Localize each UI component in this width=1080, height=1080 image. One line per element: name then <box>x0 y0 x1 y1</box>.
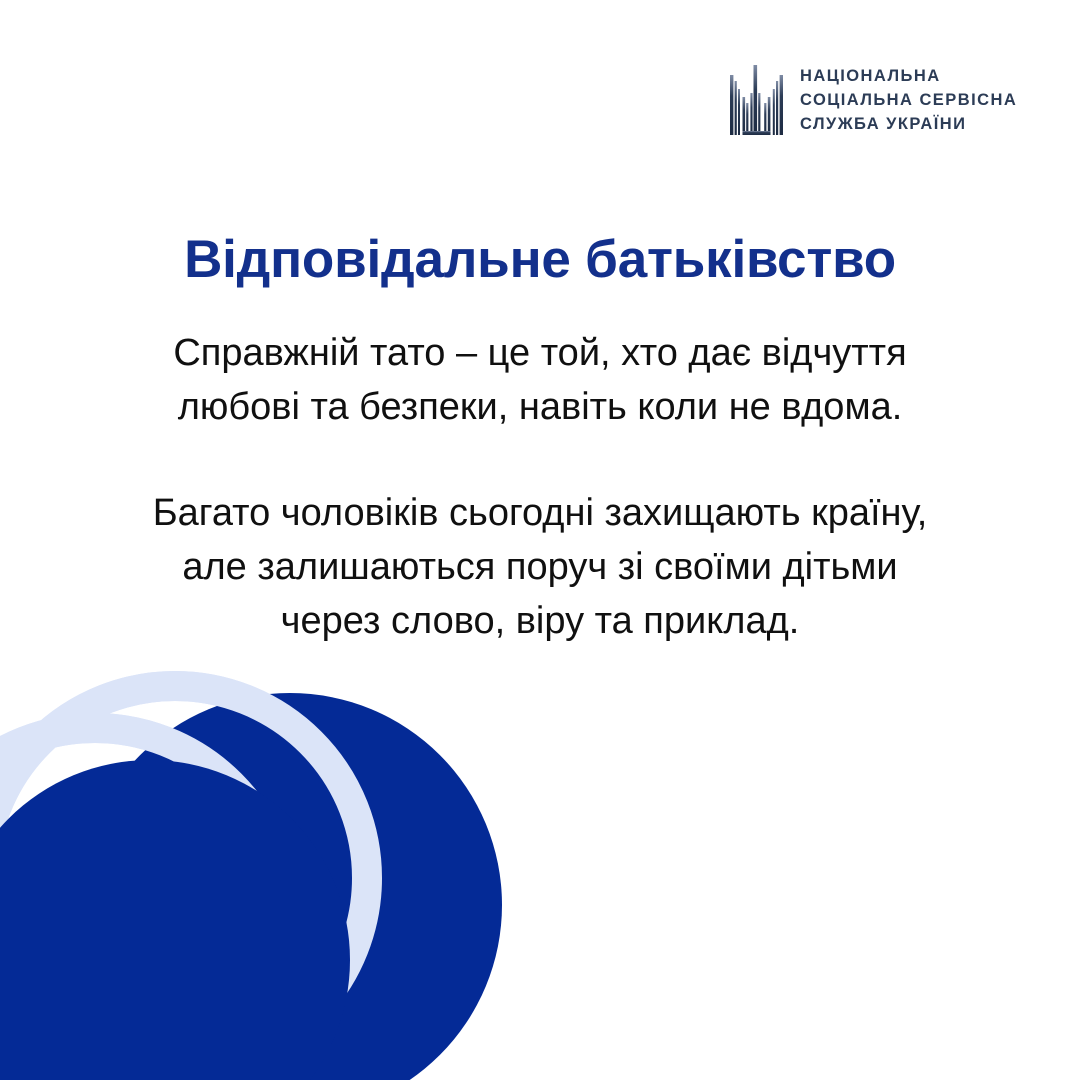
content-block: Відповідальне батьківство Справжній тато… <box>150 230 930 649</box>
light-ring-outer <box>0 686 367 1070</box>
light-ring-inner-overlay <box>0 728 287 1080</box>
overlapping-circles-graphic <box>0 620 620 1080</box>
logo-line-1: НАЦІОНАЛЬНА <box>800 66 1017 88</box>
ukrainian-trident-emblem-icon <box>728 63 786 139</box>
poster-canvas: НАЦІОНАЛЬНА СОЦІАЛЬНА СЕРВІСНА СЛУЖБА УК… <box>0 0 1080 1080</box>
light-ring-outer-overlay <box>0 686 367 1070</box>
logo-line-3: СЛУЖБА УКРАЇНИ <box>800 114 1017 136</box>
light-ring-inner <box>0 728 287 1080</box>
dark-circle-front <box>0 760 350 1080</box>
page-title: Відповідальне батьківство <box>150 230 930 289</box>
logo-wordmark: НАЦІОНАЛЬНА СОЦІАЛЬНА СЕРВІСНА СЛУЖБА УК… <box>800 66 1017 135</box>
body-paragraph-2: Багато чоловіків сьогодні захищають краї… <box>150 487 930 649</box>
dark-circle-back <box>78 693 502 1080</box>
logo-line-2: СОЦІАЛЬНА СЕРВІСНА <box>800 90 1017 112</box>
body-paragraph-1: Справжній тато – це той, хто дає відчутт… <box>150 327 930 435</box>
organization-logo: НАЦІОНАЛЬНА СОЦІАЛЬНА СЕРВІСНА СЛУЖБА УК… <box>728 63 1017 139</box>
